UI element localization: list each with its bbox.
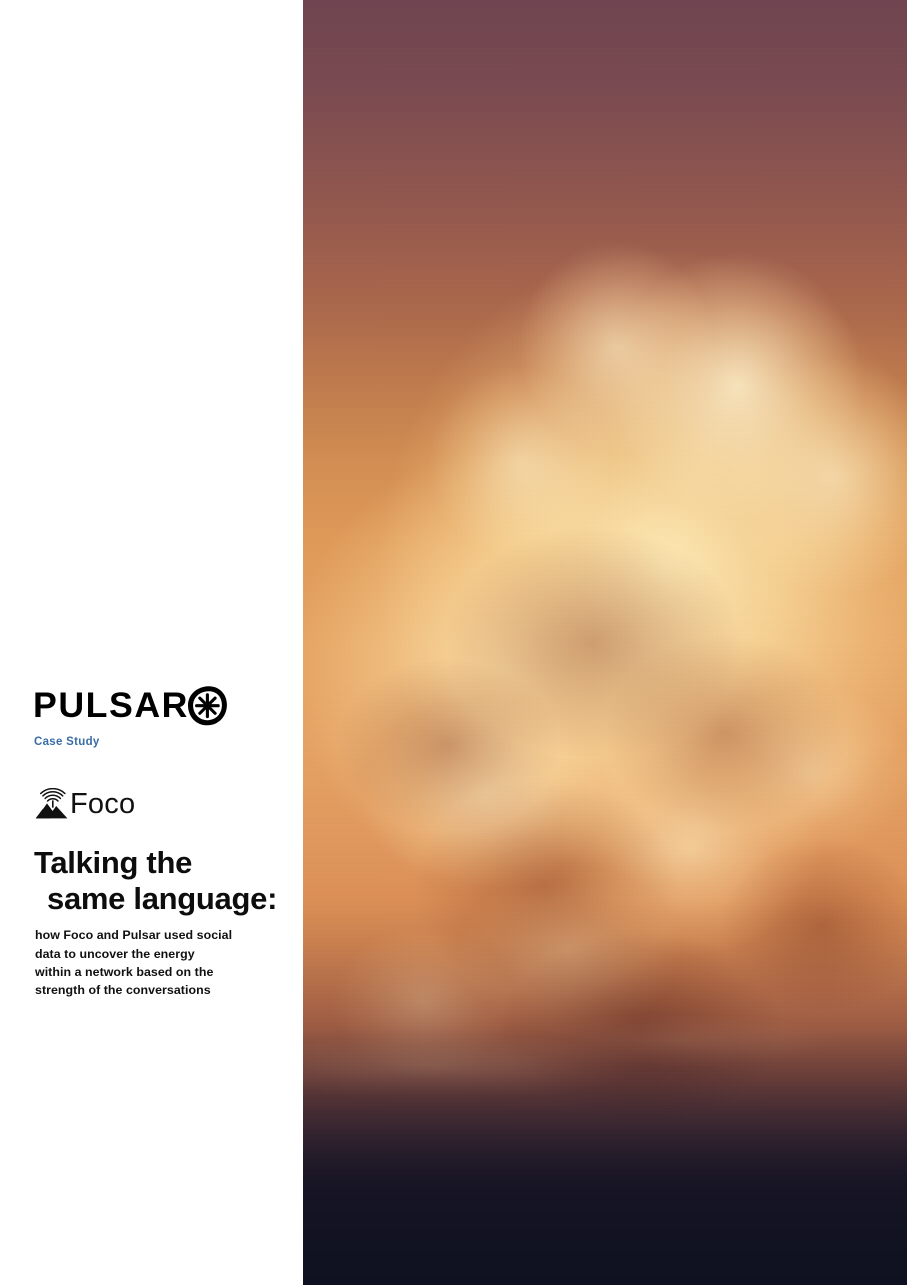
pulsar-starburst-icon [185, 684, 229, 730]
pulsar-logo-lockup: PULSAR [33, 686, 295, 738]
film-grain-layer [303, 0, 907, 1285]
subtitle-line-1: how Foco and Pulsar used social [35, 926, 275, 944]
pulsar-wordmark: PULSAR [33, 686, 189, 726]
subtitle-line-4: strength of the conversations [35, 981, 275, 999]
cover-subtitle: how Foco and Pulsar used social data to … [35, 926, 275, 999]
headline-line-2: same language: [47, 881, 296, 917]
cover-headline: Talking the same language: [34, 845, 296, 917]
foco-volcano-signal-icon [35, 788, 69, 820]
foco-logo-lockup: Foco [35, 786, 135, 820]
cover-photograph [303, 0, 907, 1285]
cover-text-panel: PULSAR Case Study [0, 0, 303, 1285]
case-study-label: Case Study [34, 736, 100, 748]
subtitle-line-2: data to uncover the energy [35, 945, 275, 963]
cover-content-block: PULSAR Case Study [33, 686, 295, 738]
headline-line-1: Talking the [34, 845, 296, 881]
subtitle-line-3: within a network based on the [35, 963, 275, 981]
foco-wordmark: Foco [70, 790, 135, 819]
case-study-cover-page: PULSAR Case Study [0, 0, 907, 1285]
